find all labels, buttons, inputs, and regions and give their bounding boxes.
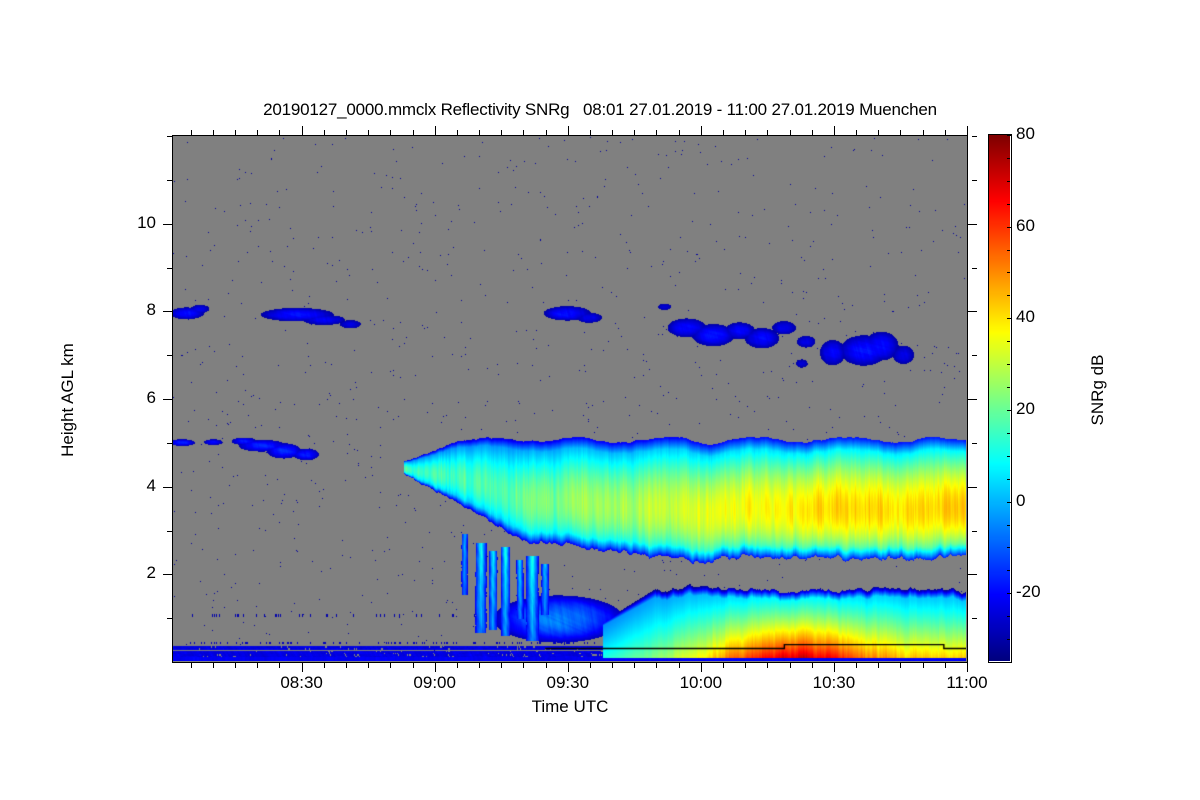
colorbar-tick-75 [1007,158,1010,159]
colorbar-tick-65 [1007,204,1010,205]
colorbar-ticklabel-5: 80 [1016,124,1076,144]
y-tick-8 [163,311,172,312]
colorbar-tick-50 [1007,272,1010,273]
x-tick-585 [634,663,635,668]
y-tick-9 [167,268,172,269]
x-tick-top-630 [834,126,835,135]
y-tick-right-3 [972,531,977,532]
colorbar-tick--5 [1007,525,1010,526]
reflectivity-heatmap [173,136,966,661]
x-tick-520 [346,663,347,668]
x-tick-top-645 [900,130,901,135]
colorbar-ticklabel-4: 60 [1016,216,1076,236]
x-tick-top-570 [568,126,569,135]
colorbar-tick--15 [1007,570,1010,571]
x-ticklabel-0: 08:30 [247,673,357,693]
y-ticklabel-3: 8 [96,300,156,320]
colorbar-tick-30 [1007,364,1010,365]
y-ticklabel-4: 10 [96,213,156,233]
x-tick-top-520 [346,130,347,135]
colorbar-tick--25 [1007,616,1010,617]
y-tick-1 [167,618,172,619]
x-tick-490 [213,663,214,668]
x-tick-525 [368,663,369,668]
colorbar-ticklabel-2: 20 [1016,399,1076,419]
y-tick-right-12 [972,136,977,137]
y-tick-right-10 [968,224,977,225]
x-tick-top-625 [812,130,813,135]
colorbar-tick-45 [1007,295,1010,296]
colorbar-ticklabel-0: -20 [1016,582,1076,602]
x-tick-top-500 [257,130,258,135]
x-tick-540 [435,663,436,672]
colorbar-label: SNRg dB [1088,280,1108,500]
y-tick-10 [163,224,172,225]
x-tick-top-660 [967,126,968,135]
x-ticklabel-1: 09:00 [380,673,490,693]
x-tick-top-550 [479,130,480,135]
x-tick-635 [856,663,857,668]
x-tick-top-620 [790,130,791,135]
y-tick-right-9 [972,268,977,269]
y-ticklabel-0: 2 [96,563,156,583]
x-tick-630 [834,663,835,672]
x-tick-top-555 [501,130,502,135]
x-tick-top-490 [213,130,214,135]
colorbar-tick-55 [1007,250,1010,251]
y-tick-7 [167,355,172,356]
x-tick-580 [612,663,613,668]
y-tick-11 [167,180,172,181]
colorbar-tick-70 [1007,181,1010,182]
y-tick-right-5 [972,443,977,444]
x-tick-595 [679,663,680,668]
colorbar-tick-40 [1007,318,1012,319]
x-tick-top-635 [856,130,857,135]
x-tick-top-580 [612,130,613,135]
x-tick-top-640 [878,130,879,135]
x-tick-top-560 [523,130,524,135]
x-ticklabel-4: 10:30 [779,673,889,693]
colorbar-ticklabel-3: 40 [1016,307,1076,327]
x-tick-515 [324,663,325,668]
colorbar-tick-35 [1007,341,1010,342]
x-tick-top-655 [945,130,946,135]
x-tick-top-575 [590,130,591,135]
colorbar-ticklabel-1: 0 [1016,491,1076,511]
x-tick-590 [656,663,657,668]
x-tick-top-495 [235,130,236,135]
colorbar-tick-5 [1007,479,1010,480]
x-tick-640 [878,663,879,668]
x-ticklabel-3: 10:00 [646,673,756,693]
x-tick-top-610 [745,130,746,135]
colorbar-tick-15 [1007,433,1010,434]
x-tick-top-545 [457,130,458,135]
x-tick-top-605 [723,130,724,135]
x-tick-top-585 [634,130,635,135]
x-tick-505 [279,663,280,668]
y-tick-right-6 [968,399,977,400]
x-tick-620 [790,663,791,668]
y-ticklabel-2: 6 [96,388,156,408]
colorbar-tick-10 [1007,456,1010,457]
x-tick-top-535 [413,130,414,135]
x-tick-555 [501,663,502,668]
y-axis-label: Height AGL km [58,270,78,530]
colorbar-tick-0 [1007,502,1012,503]
x-tick-top-515 [324,130,325,135]
colorbar-tick-25 [1007,387,1010,388]
y-tick-4 [163,487,172,488]
x-axis-label: Time UTC [172,697,968,717]
x-tick-545 [457,663,458,668]
x-ticklabel-5: 11:00 [912,673,1022,693]
x-tick-645 [900,663,901,668]
colorbar [988,134,1012,663]
x-tick-500 [257,663,258,668]
x-tick-575 [590,663,591,668]
x-tick-560 [523,663,524,668]
y-tick-12 [167,136,172,137]
x-tick-495 [235,663,236,668]
x-tick-top-485 [191,130,192,135]
x-tick-top-530 [390,130,391,135]
x-tick-660 [967,663,968,672]
y-tick-right-2 [968,574,977,575]
x-tick-565 [546,663,547,668]
x-tick-530 [390,663,391,668]
x-ticklabel-2: 09:30 [513,673,623,693]
colorbar-tick--20 [1007,593,1012,594]
x-tick-top-595 [679,130,680,135]
x-tick-605 [723,663,724,668]
y-tick-right-7 [972,355,977,356]
x-tick-top-615 [767,130,768,135]
x-tick-top-525 [368,130,369,135]
y-ticklabel-1: 4 [96,476,156,496]
y-tick-right-8 [968,311,977,312]
x-tick-615 [767,663,768,668]
y-tick-5 [167,443,172,444]
x-tick-655 [945,663,946,668]
x-tick-600 [701,663,702,672]
x-tick-610 [745,663,746,668]
x-tick-top-600 [701,126,702,135]
x-tick-top-540 [435,126,436,135]
colorbar-tick-20 [1007,410,1012,411]
radar-reflectivity-figure: 20190127_0000.mmclx Reflectivity SNRg 08… [0,0,1200,800]
y-tick-right-11 [972,180,977,181]
x-tick-485 [191,663,192,668]
plot-title: 20190127_0000.mmclx Reflectivity SNRg 08… [0,100,1200,120]
x-tick-top-565 [546,130,547,135]
colorbar-tick-80 [1007,135,1012,136]
x-tick-top-650 [923,130,924,135]
colorbar-tick--10 [1007,547,1010,548]
x-tick-625 [812,663,813,668]
y-tick-right-1 [972,618,977,619]
x-tick-top-510 [302,126,303,135]
x-tick-570 [568,663,569,672]
y-tick-3 [167,531,172,532]
x-tick-top-590 [656,130,657,135]
y-tick-6 [163,399,172,400]
x-tick-510 [302,663,303,672]
y-tick-right-4 [968,487,977,488]
x-tick-650 [923,663,924,668]
x-tick-535 [413,663,414,668]
colorbar-tick-60 [1007,227,1012,228]
colorbar-tick--30 [1007,639,1010,640]
plot-area [172,135,968,663]
colorbar-gradient [989,135,1010,661]
y-tick-2 [163,574,172,575]
x-tick-top-505 [279,130,280,135]
x-tick-550 [479,663,480,668]
